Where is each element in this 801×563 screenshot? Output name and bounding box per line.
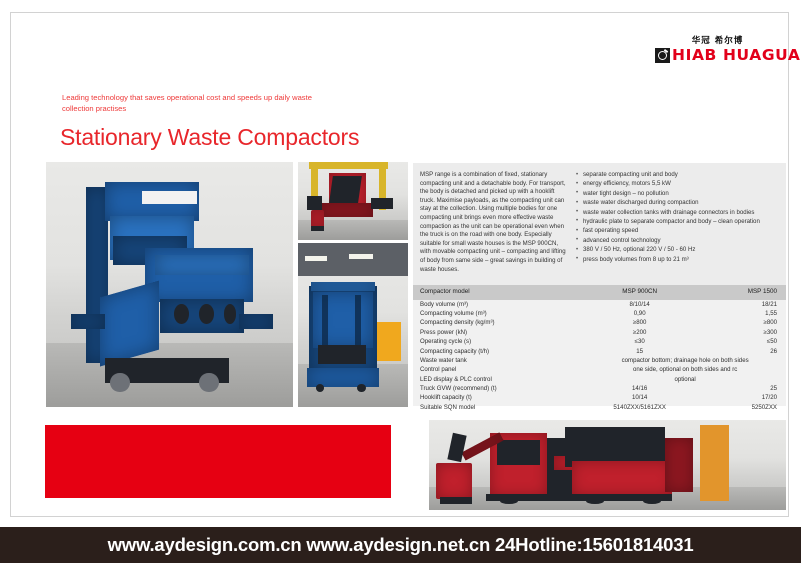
spec-value-msp900cn: 8/10/14 [584, 300, 695, 309]
spec-value-msp900cn: ≥200 [584, 328, 695, 337]
column-header-model: Compactor model [413, 285, 584, 300]
footer-banner: www.aydesign.com.cn www.aydesign.net.cn … [0, 527, 801, 563]
column-header-msp900cn: MSP 900CN [584, 285, 695, 300]
spec-label: Compacting density (kg/m³) [413, 319, 584, 328]
red-color-block [45, 425, 391, 498]
spec-label: Compacting volume (m³) [413, 309, 584, 318]
spec-value-msp1500: 5250ZXX [695, 403, 786, 412]
spec-value-msp1500: 18/21 [695, 300, 786, 309]
feature-item: separate compacting unit and body [576, 171, 780, 180]
table-row: LED display & PLC controloptional [413, 375, 786, 384]
table-row: Waste water tankcompactor bottom; draina… [413, 356, 786, 365]
spec-value-msp1500: 17/20 [695, 394, 786, 403]
secondary-product-image-bottom [298, 243, 408, 407]
features-list: separate compacting unit and bodyenergy … [576, 171, 780, 265]
feature-item: 380 V / 50 Hz, optional 220 V / 50 - 60 … [576, 246, 780, 255]
spec-value-shared: one side, optional on both sides and rc [584, 366, 786, 375]
feature-item: water tight design – no pollution [576, 190, 780, 199]
spec-value-msp1500: ≥300 [695, 328, 786, 337]
main-product-image [46, 162, 293, 407]
feature-item: waste water collection tanks with draina… [576, 209, 780, 218]
specification-table: Compactor model MSP 900CN MSP 1500 Body … [413, 285, 786, 406]
spec-value-msp1500: 1,55 [695, 309, 786, 318]
spec-value-msp900cn: 15 [584, 347, 695, 356]
feature-item: advanced control technology [576, 237, 780, 246]
table-row: Operating cycle (s)≤30≤50 [413, 338, 786, 347]
table-header-row: Compactor model MSP 900CN MSP 1500 [413, 285, 786, 300]
spec-label: Waste water tank [413, 356, 584, 365]
tagline: Leading technology that saves operationa… [62, 92, 342, 114]
spec-value-msp1500: 26 [695, 347, 786, 356]
spec-label: LED display & PLC control [413, 375, 584, 384]
description-body: MSP range is a combination of fixed, sta… [420, 171, 566, 274]
spec-value-shared: optional [584, 375, 786, 384]
table-row: Truck GVW (recommend) (t)14/1625 [413, 385, 786, 394]
spec-label: Operating cycle (s) [413, 338, 584, 347]
table-row: Press power (kN)≥200≥300 [413, 328, 786, 337]
secondary-product-image-top [298, 162, 408, 240]
spec-value-msp1500: ≤50 [695, 338, 786, 347]
table-row: Compacting density (kg/m³)≥800≥800 [413, 319, 786, 328]
spec-label: Compacting capacity (t/h) [413, 347, 584, 356]
spec-label: Body volume (m³) [413, 300, 584, 309]
table-row: Body volume (m³)8/10/1418/21 [413, 300, 786, 309]
footer-contact-text: www.aydesign.com.cn www.aydesign.net.cn … [0, 527, 801, 563]
spec-label: Control panel [413, 366, 584, 375]
table-row: Hooklift capacity (t)10/1417/20 [413, 394, 786, 403]
table-row: Compacting capacity (t/h)1526 [413, 347, 786, 356]
bottom-product-image [429, 420, 786, 510]
spec-value-msp1500: ≥800 [695, 319, 786, 328]
spec-label: Truck GVW (recommend) (t) [413, 385, 584, 394]
page-title: Stationary Waste Compactors [60, 124, 359, 151]
spec-value-msp1500: 25 [695, 385, 786, 394]
spec-label: Suitable SQN model [413, 403, 584, 412]
spec-value-msp900cn: 14/16 [584, 385, 695, 394]
camera-circle-mark-icon [655, 48, 670, 63]
feature-item: fast operating speed [576, 227, 780, 236]
feature-item: energy efficiency, motors 5,5 kW [576, 180, 780, 189]
logo-latin-text: HIAB HUAGUAN [672, 48, 801, 63]
spec-value-msp900cn: 0,90 [584, 309, 695, 318]
spec-label: Press power (kN) [413, 328, 584, 337]
spec-label: Hooklift capacity (t) [413, 394, 584, 403]
table-row: Control panelone side, optional on both … [413, 366, 786, 375]
description-panel: MSP range is a combination of fixed, sta… [413, 163, 786, 285]
feature-item: hydraulic plate to separate compactor an… [576, 218, 780, 227]
spec-value-msp900cn: ≤30 [584, 338, 695, 347]
feature-item: press body volumes from 8 up to 21 m³ [576, 256, 780, 265]
column-header-msp1500: MSP 1500 [695, 285, 786, 300]
spec-value-shared: compactor bottom; drainage hole on both … [584, 356, 786, 365]
spec-value-msp900cn: ≥800 [584, 319, 695, 328]
spec-value-msp900cn: 10/14 [584, 394, 695, 403]
spec-value-msp900cn: 5140ZXX/5161ZXX [584, 403, 695, 412]
table-row: Compacting volume (m³)0,901,55 [413, 309, 786, 318]
brand-logo: 华冠 希尔博 HIAB HUAGUAN [655, 36, 780, 63]
table-row: Suitable SQN model5140ZXX/5161ZXX5250ZXX [413, 403, 786, 412]
feature-item: waste water discharged during compaction [576, 199, 780, 208]
